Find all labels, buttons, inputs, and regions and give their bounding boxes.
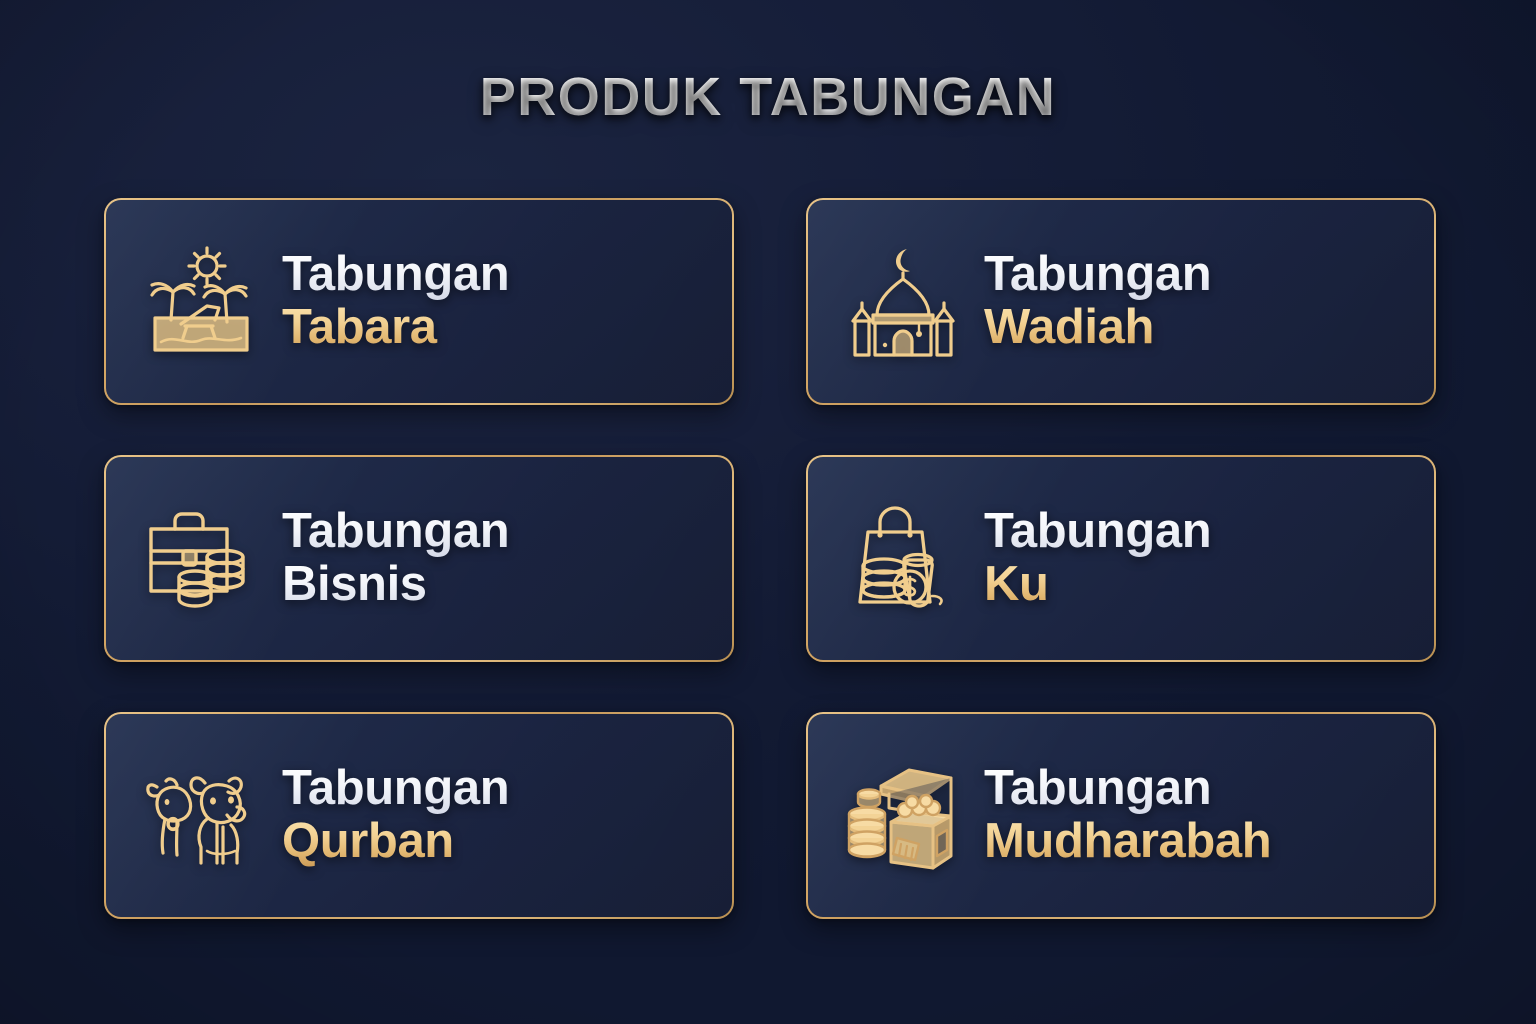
card-text: Tabungan Wadiah — [984, 250, 1211, 353]
card-title-line-2: Bisnis — [282, 560, 509, 610]
card-text: Tabungan Tabara — [282, 250, 509, 353]
card-title-line-2: Mudharabah — [984, 817, 1271, 867]
mosque-icon — [844, 239, 962, 365]
card-title-line-1: Tabungan — [282, 764, 509, 814]
card-text: Tabungan Bisnis — [282, 507, 509, 610]
card-inner: Tabungan Tabara — [106, 200, 732, 403]
card-text: Tabungan Mudharabah — [984, 764, 1271, 867]
product-card-qurban[interactable]: Tabungan Qurban — [104, 712, 734, 919]
card-title-line-1: Tabungan — [984, 250, 1211, 300]
card-text: Tabungan Ku — [984, 507, 1211, 610]
product-card-bisnis[interactable]: Tabungan Bisnis — [104, 455, 734, 662]
card-inner: Tabungan Wadiah — [808, 200, 1434, 403]
title-container: PRODUK TABUNGAN — [0, 66, 1536, 128]
card-title-line-1: Tabungan — [984, 507, 1211, 557]
card-title-line-2: Tabara — [282, 303, 509, 353]
card-title-line-2: Qurban — [282, 817, 509, 867]
card-text: Tabungan Qurban — [282, 764, 509, 867]
card-title-line-1: Tabungan — [984, 764, 1271, 814]
beach-palm-sun-icon — [142, 239, 260, 365]
product-card-tabara[interactable]: Tabungan Tabara — [104, 198, 734, 405]
product-card-mudharabah[interactable]: Tabungan Mudharabah — [806, 712, 1436, 919]
treasure-box-coins-icon — [844, 753, 962, 879]
product-card-grid: Tabungan Tabara — [104, 198, 1436, 919]
product-card-ku[interactable]: Tabungan Ku — [806, 455, 1436, 662]
card-inner: Tabungan Bisnis — [106, 457, 732, 660]
briefcase-coins-icon — [142, 496, 260, 622]
page-title: PRODUK TABUNGAN — [480, 66, 1056, 128]
card-title-line-1: Tabungan — [282, 250, 509, 300]
card-inner: Tabungan Mudharabah — [808, 714, 1434, 917]
card-inner: Tabungan Qurban — [106, 714, 732, 917]
card-title-line-2: Ku — [984, 560, 1211, 610]
card-title-line-1: Tabungan — [282, 507, 509, 557]
shopping-bag-money-pouch-icon — [844, 496, 962, 622]
card-inner: Tabungan Ku — [808, 457, 1434, 660]
card-title-line-2: Wadiah — [984, 303, 1211, 353]
product-card-wadiah[interactable]: Tabungan Wadiah — [806, 198, 1436, 405]
cattle-cow-goat-icon — [142, 753, 260, 879]
